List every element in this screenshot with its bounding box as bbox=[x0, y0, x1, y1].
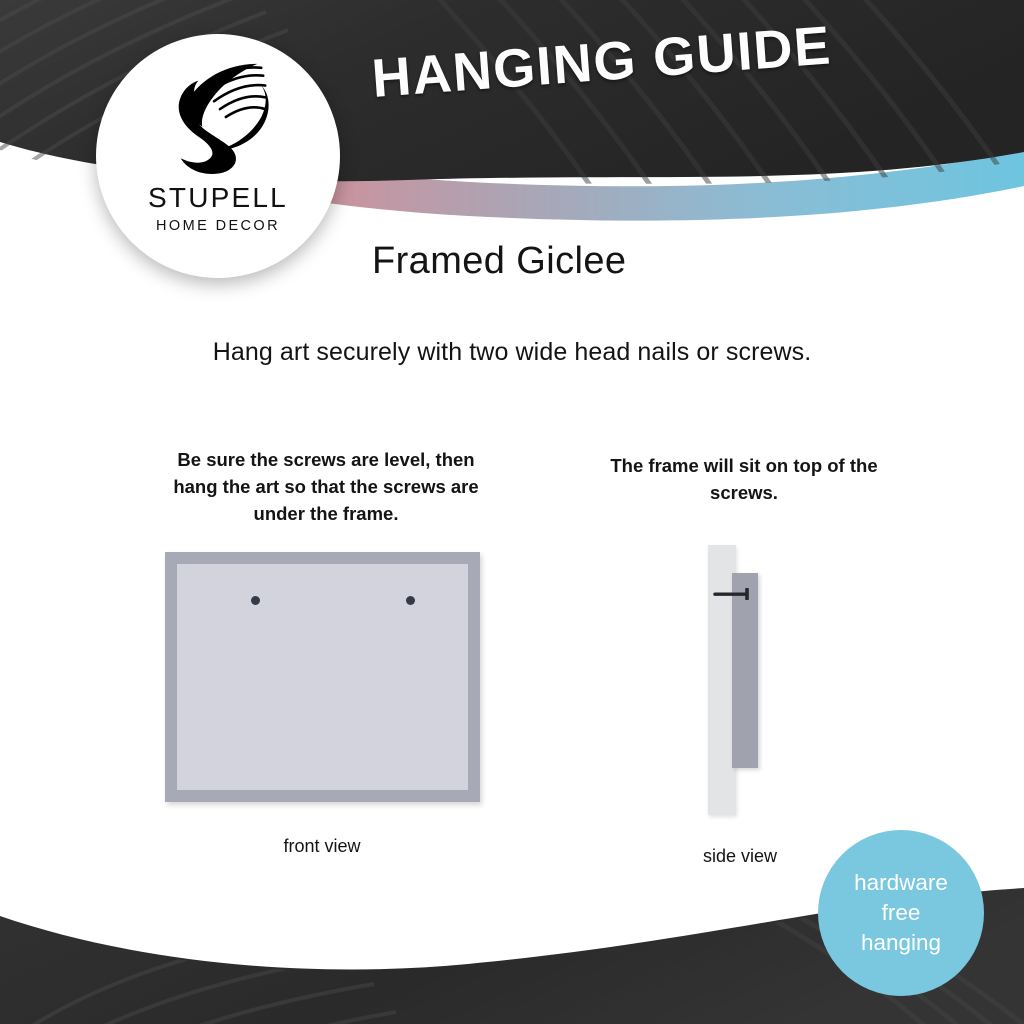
product-type-heading: Framed Giclee bbox=[372, 240, 626, 283]
front-view-art-panel bbox=[177, 564, 468, 790]
badge-line-2: free bbox=[882, 898, 921, 928]
hardware-free-hanging-badge: hardware free hanging bbox=[818, 830, 984, 996]
hanging-guide-page: STUPELL HOME DECOR HANGING GUIDE Framed … bbox=[0, 0, 1024, 1024]
screw-dot-left-icon bbox=[251, 596, 260, 605]
logo-brand-tagline: HOME DECOR bbox=[156, 219, 280, 234]
brand-logo-badge: STUPELL HOME DECOR bbox=[96, 34, 340, 278]
main-instruction-text: Hang art securely with two wide head nai… bbox=[0, 338, 1024, 367]
front-view-caption: Be sure the screws are level, then hang … bbox=[160, 446, 492, 527]
side-view-label: side view bbox=[655, 846, 825, 867]
badge-line-3: hanging bbox=[861, 928, 941, 958]
page-title: HANGING GUIDE bbox=[370, 10, 893, 110]
screw-icon bbox=[713, 588, 755, 600]
side-view-caption: The frame will sit on top of the screws. bbox=[598, 452, 890, 506]
logo-brand-name: STUPELL bbox=[148, 184, 288, 212]
front-view-label: front view bbox=[222, 836, 422, 857]
stupell-s-swoosh-icon bbox=[159, 56, 277, 178]
screw-dot-right-icon bbox=[406, 596, 415, 605]
badge-line-1: hardware bbox=[854, 868, 948, 898]
side-view-frame-diagram bbox=[708, 545, 792, 815]
side-view-frame bbox=[732, 573, 758, 768]
front-view-frame-diagram bbox=[165, 552, 480, 802]
